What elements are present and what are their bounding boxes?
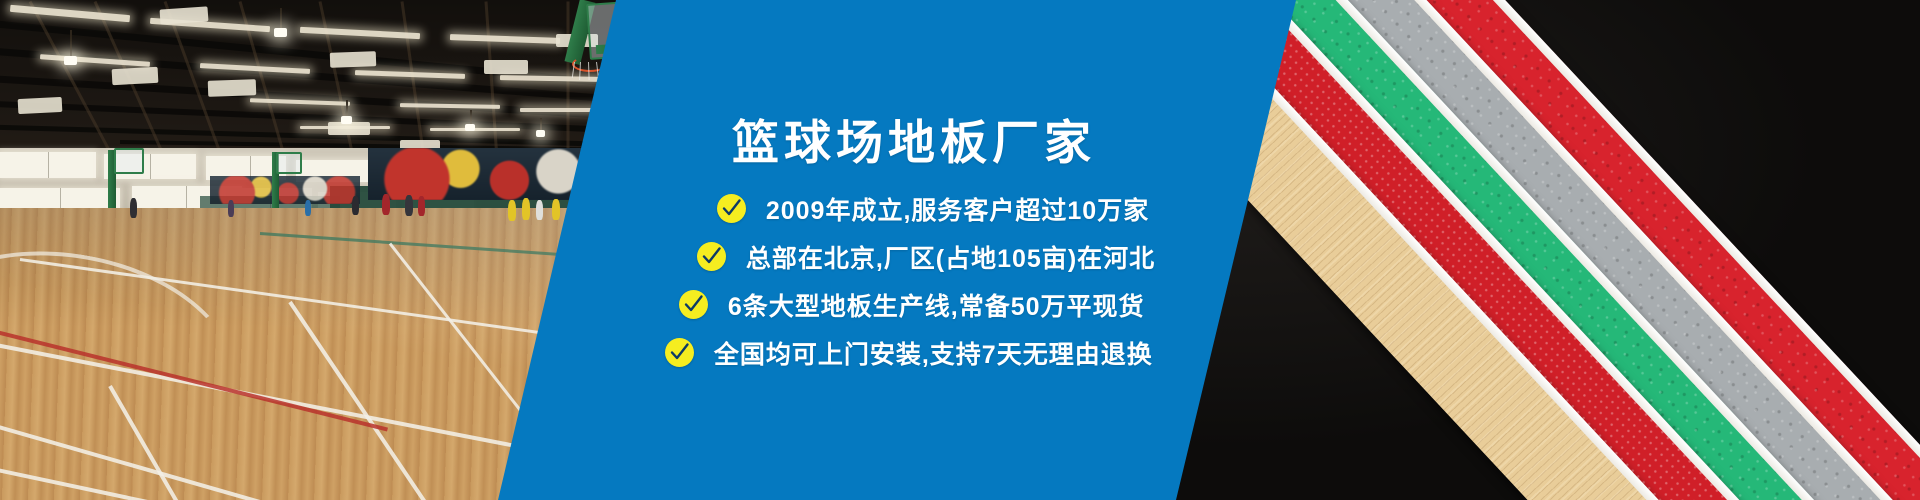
feature-text: 2009年成立,服务客户超过10万家 <box>766 191 1149 227</box>
person <box>305 200 311 216</box>
list-item: 总部在北京,厂区(占地105亩)在河北 <box>697 239 1155 275</box>
check-circle-icon <box>679 290 708 319</box>
page-title: 篮球场地板厂家 <box>732 117 1096 169</box>
feature-text: 总部在北京,厂区(占地105亩)在河北 <box>746 239 1155 275</box>
person <box>522 198 530 220</box>
feature-text: 6条大型地板生产线,常备50万平现货 <box>728 287 1145 323</box>
person <box>130 198 137 218</box>
banner-content: 篮球场地板厂家 2009年成立,服务客户超过10万家 总部在北京,厂区(占地10… <box>560 0 1260 500</box>
person <box>508 200 516 221</box>
person <box>418 196 425 216</box>
feature-list: 2009年成立,服务客户超过10万家 总部在北京,厂区(占地105亩)在河北 6… <box>665 179 1155 383</box>
backboard-left <box>114 148 144 174</box>
list-item: 2009年成立,服务客户超过10万家 <box>717 191 1155 227</box>
promo-banner: 篮球场地板厂家 2009年成立,服务客户超过10万家 总部在北京,厂区(占地10… <box>0 0 1920 500</box>
list-item: 6条大型地板生产线,常备50万平现货 <box>679 287 1155 323</box>
person <box>552 199 560 220</box>
person <box>536 200 543 220</box>
person <box>352 196 359 215</box>
check-circle-icon <box>697 242 726 271</box>
check-circle-icon <box>717 194 746 223</box>
list-item: 全国均可上门安装,支持7天无理由退换 <box>665 335 1155 371</box>
feature-text: 全国均可上门安装,支持7天无理由退换 <box>714 335 1153 371</box>
person <box>228 200 234 217</box>
person <box>382 194 390 215</box>
person <box>405 195 413 216</box>
check-circle-icon <box>665 338 694 367</box>
